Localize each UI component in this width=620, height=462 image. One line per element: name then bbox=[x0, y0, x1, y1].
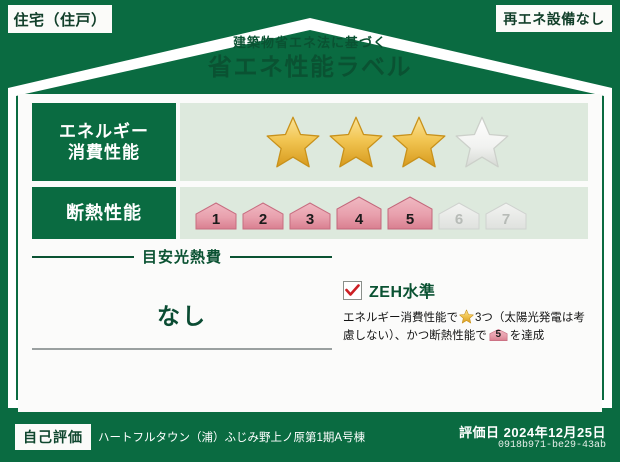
label-footer: 自己評価 ハートフルタウン（浦）ふじみ野上ノ原第1期A号棟 評価日 2024年1… bbox=[0, 412, 620, 462]
self-evaluation-badge: 自己評価 bbox=[15, 424, 91, 450]
insulation-level-2: 2 bbox=[241, 201, 285, 231]
evaluation-date: 評価日 2024年12月25日 bbox=[459, 422, 606, 441]
property-name: ハートフルタウン（浦）ふじみ野上ノ原第1期A号棟 bbox=[98, 429, 365, 445]
renewable-equipment-tag-label: 再エネ設備なし bbox=[503, 9, 605, 29]
insulation-level-6: 6 bbox=[437, 201, 481, 231]
star-icon-inline bbox=[459, 309, 474, 324]
utility-cost-rule-left bbox=[32, 256, 134, 258]
star-icon-filled-3 bbox=[391, 115, 447, 169]
label-title: 省エネ性能ラベル bbox=[0, 53, 620, 83]
insulation-level-6-number: 6 bbox=[437, 211, 481, 228]
label-inner-panel: エネルギー 消費性能 bbox=[18, 94, 602, 412]
label-title-group: 建築物省エネ法に基づく 省エネ性能ラベル bbox=[0, 34, 620, 83]
insulation-performance-label: 断熱性能 bbox=[66, 202, 142, 225]
building-type-tag: 住宅（住戸） bbox=[8, 5, 112, 33]
zeh-desc-part1: エネルギー消費性能で bbox=[343, 312, 458, 324]
label-subtitle: 建築物省エネ法に基づく bbox=[0, 34, 620, 52]
energy-performance-label: 住宅（住戸） 再エネ設備なし 建築物省エネ法に基づく 省エネ性能ラベル エネルギ… bbox=[0, 0, 620, 462]
insulation-level-5-number: 5 bbox=[386, 211, 434, 228]
insulation-level-scale: 1 2 3 bbox=[194, 195, 528, 231]
utility-cost-bottom-divider bbox=[32, 348, 332, 350]
energy-performance-label-line2: 消費性能 bbox=[59, 142, 149, 163]
star-rating bbox=[265, 115, 510, 169]
insulation-level-3: 3 bbox=[288, 201, 332, 231]
evaluation-id: 0918b971-be29-43ab bbox=[498, 440, 606, 451]
utility-cost-value: なし bbox=[32, 297, 332, 331]
insulation-levels-area: 1 2 3 bbox=[180, 187, 588, 239]
star-icon-empty-4 bbox=[454, 115, 510, 169]
energy-performance-stars-area bbox=[180, 103, 588, 181]
energy-performance-row: エネルギー 消費性能 bbox=[32, 103, 588, 181]
zeh-standard-description: エネルギー消費性能で3つ（太陽光発電は考慮しない）、かつ断熱性能で5を達成 bbox=[343, 309, 591, 345]
insulation-level-5: 5 bbox=[386, 195, 434, 231]
energy-performance-header: エネルギー 消費性能 bbox=[32, 103, 176, 181]
renewable-equipment-tag: 再エネ設備なし bbox=[496, 5, 612, 32]
utility-cost-block: 目安光熱費 なし bbox=[32, 246, 332, 331]
insulation-level-badge-number: 5 bbox=[489, 326, 508, 343]
insulation-level-7-number: 7 bbox=[484, 211, 528, 228]
zeh-desc-part4: を達成 bbox=[510, 330, 545, 342]
zeh-desc-part2: 3つ（太陽光発電 bbox=[475, 312, 562, 324]
zeh-standard-title: ZEH水準 bbox=[369, 278, 436, 302]
insulation-level-1-number: 1 bbox=[194, 211, 238, 228]
insulation-level-4-number: 4 bbox=[335, 211, 383, 228]
zeh-standard-header: ZEH水準 bbox=[343, 278, 591, 302]
utility-cost-title-row: 目安光熱費 bbox=[32, 246, 332, 267]
insulation-level-2-number: 2 bbox=[241, 211, 285, 228]
energy-performance-label-line1: エネルギー bbox=[59, 121, 149, 142]
zeh-checkbox[interactable] bbox=[343, 281, 362, 300]
insulation-level-badge-icon: 5 bbox=[489, 327, 508, 343]
star-icon-filled-1 bbox=[265, 115, 321, 169]
insulation-performance-row: 断熱性能 bbox=[32, 187, 588, 239]
star-icon-filled-2 bbox=[328, 115, 384, 169]
building-type-tag-label: 住宅（住戸） bbox=[13, 9, 106, 30]
utility-cost-rule-right bbox=[230, 256, 332, 258]
insulation-performance-header: 断熱性能 bbox=[32, 187, 176, 239]
insulation-level-7: 7 bbox=[484, 201, 528, 231]
insulation-level-1: 1 bbox=[194, 201, 238, 231]
utility-cost-title: 目安光熱費 bbox=[142, 246, 222, 267]
insulation-level-3-number: 3 bbox=[288, 211, 332, 228]
insulation-level-4: 4 bbox=[335, 195, 383, 231]
zeh-standard-block: ZEH水準 エネルギー消費性能で3つ（太陽光発電は考慮しない）、かつ断熱性能で5… bbox=[343, 278, 591, 345]
check-icon bbox=[345, 284, 360, 297]
